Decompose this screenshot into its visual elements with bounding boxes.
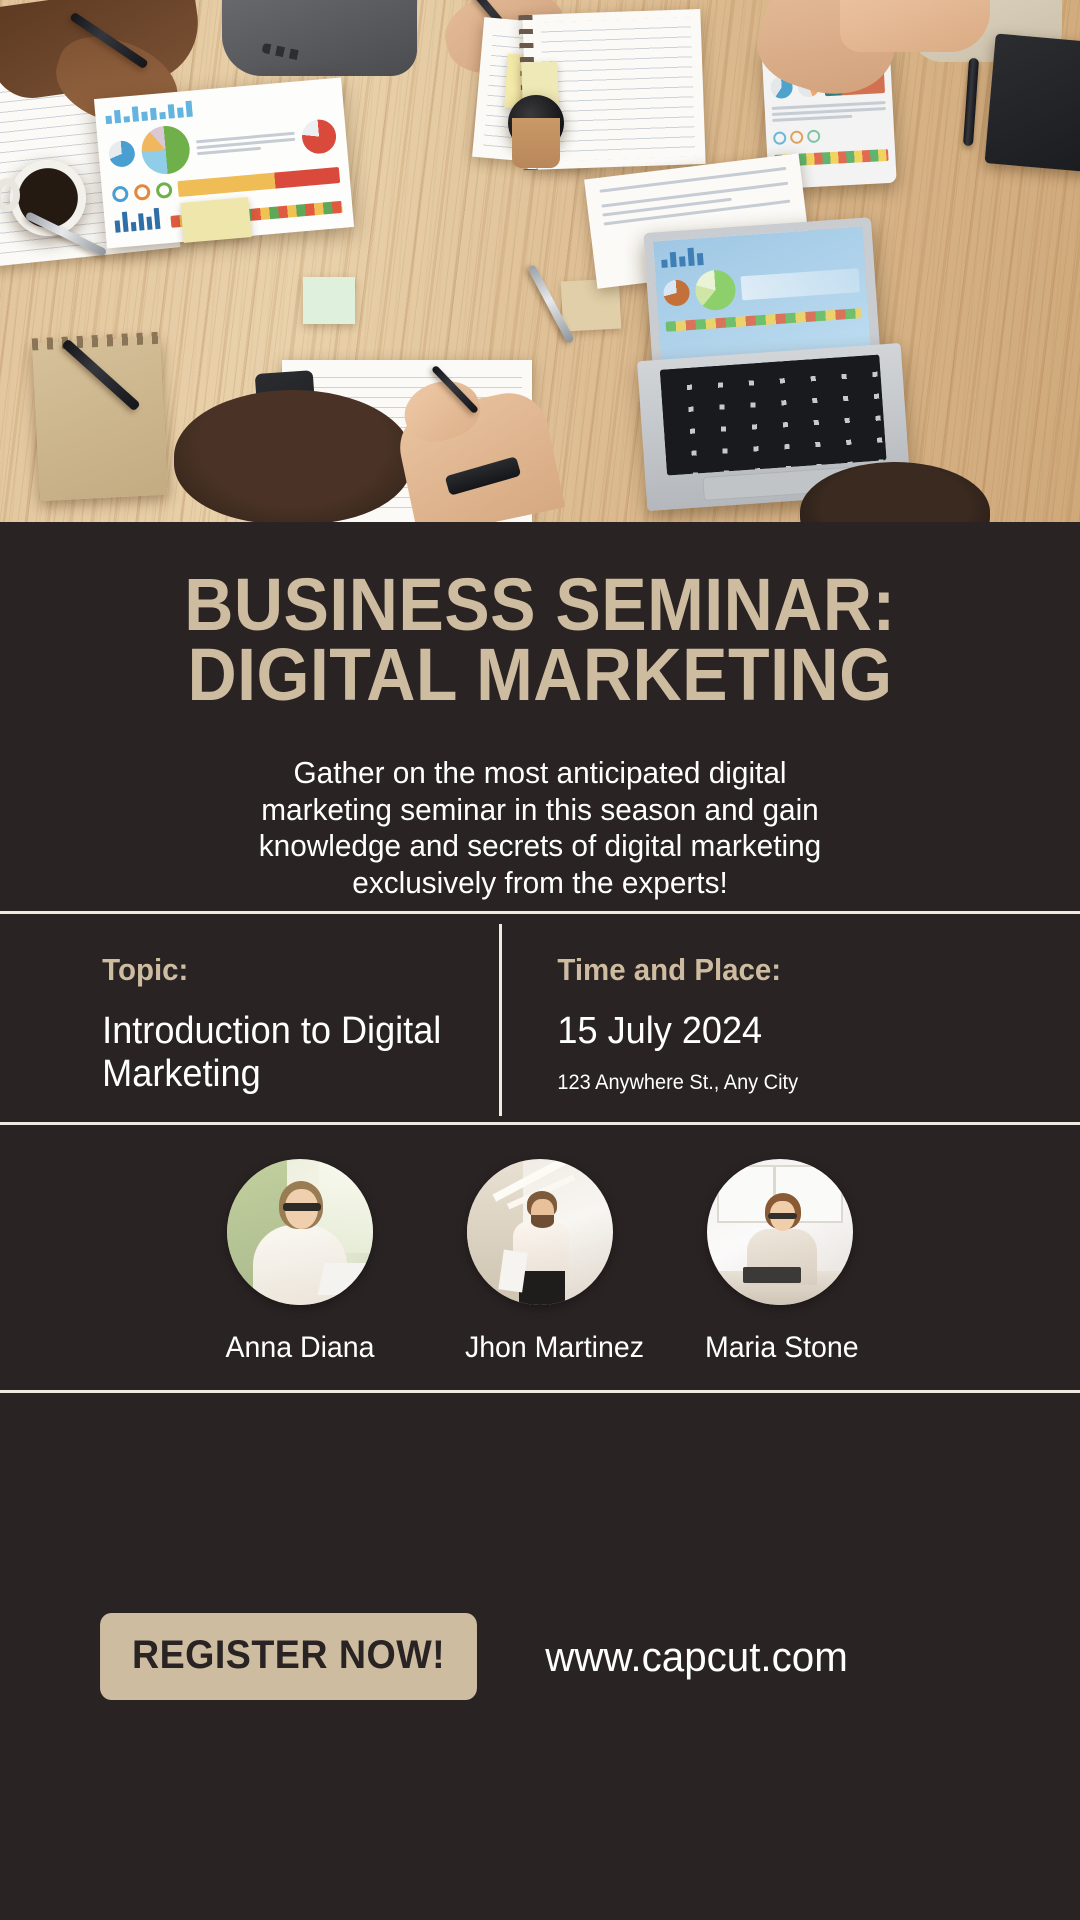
title-block: BUSINESS SEMINAR: DIGITAL MARKETING Gath… bbox=[0, 522, 1080, 911]
coffee-cup-body bbox=[512, 118, 560, 168]
avatar-glasses bbox=[283, 1203, 321, 1211]
avatar-laptop bbox=[743, 1267, 801, 1283]
register-now-button[interactable]: REGISTER NOW! bbox=[100, 1613, 477, 1700]
sheet-mini-donut bbox=[134, 184, 151, 201]
laptop-keyboard bbox=[660, 354, 887, 475]
sheet-pie-chart bbox=[140, 124, 192, 176]
event-address: 123 Anywhere St., Any City bbox=[557, 1071, 1066, 1095]
tablet-dot bbox=[790, 130, 804, 144]
hero-photo bbox=[0, 0, 1080, 522]
seminar-poster: BUSINESS SEMINAR: DIGITAL MARKETING Gath… bbox=[0, 0, 1080, 1920]
speakers-section: Anna Diana Jhon Martinez bbox=[0, 1125, 1080, 1390]
footer-section: REGISTER NOW! www.capcut.com bbox=[0, 1393, 1080, 1920]
avatar-glasses bbox=[768, 1213, 797, 1219]
tablet-dot bbox=[773, 131, 787, 145]
spiral-notebook-lines bbox=[541, 17, 696, 161]
topic-value: Introduction to Digital Marketing bbox=[102, 1010, 488, 1095]
sheet-mini-donut bbox=[155, 182, 172, 199]
kraft-notebook bbox=[32, 337, 168, 501]
sheet-donut-blue bbox=[108, 140, 136, 168]
notebook-dark bbox=[985, 33, 1080, 172]
sheet-donut-red bbox=[301, 118, 338, 155]
avatar bbox=[227, 1159, 373, 1305]
laptop-line-chart bbox=[741, 268, 860, 300]
speaker-card: Maria Stone bbox=[701, 1159, 859, 1365]
avatar bbox=[707, 1159, 853, 1305]
speaker-name: Jhon Martinez bbox=[465, 1331, 615, 1365]
poster-description: Gather on the most anticipated digital m… bbox=[233, 755, 847, 901]
info-section: Topic: Introduction to Digital Marketing… bbox=[0, 914, 1080, 1122]
topic-label: Topic: bbox=[102, 952, 488, 988]
tablet-text-line bbox=[772, 115, 852, 122]
poster-title-line2: DIGITAL MARKETING bbox=[98, 640, 981, 710]
time-place-label: Time and Place: bbox=[557, 952, 1066, 988]
info-time-place-column: Time and Place: 15 July 2024 123 Anywher… bbox=[502, 914, 1080, 1122]
avatar-laptop bbox=[318, 1263, 369, 1295]
laptop-donut-orange bbox=[663, 279, 691, 307]
laptop-pie-chart bbox=[694, 269, 737, 312]
sheet-mini-donut bbox=[112, 185, 129, 202]
suit-sleeve bbox=[222, 0, 417, 76]
sticky-note-yellow-sheet bbox=[180, 197, 251, 243]
avatar bbox=[467, 1159, 613, 1305]
person-curly-hair bbox=[174, 390, 412, 522]
info-topic-column: Topic: Introduction to Digital Marketing bbox=[0, 914, 499, 1122]
arm-reaching bbox=[840, 0, 990, 52]
poster-title-line1: BUSINESS SEMINAR: bbox=[98, 570, 981, 640]
event-date: 15 July 2024 bbox=[557, 1010, 1066, 1053]
speaker-card: Anna Diana bbox=[221, 1159, 379, 1365]
sticky-note-mint bbox=[303, 277, 355, 324]
speaker-name: Anna Diana bbox=[225, 1331, 375, 1365]
speaker-card: Jhon Martinez bbox=[461, 1159, 619, 1365]
website-url: www.capcut.com bbox=[545, 1633, 848, 1681]
speaker-name: Maria Stone bbox=[705, 1331, 855, 1365]
avatar-trousers bbox=[519, 1271, 565, 1305]
tablet-dot bbox=[807, 130, 821, 144]
